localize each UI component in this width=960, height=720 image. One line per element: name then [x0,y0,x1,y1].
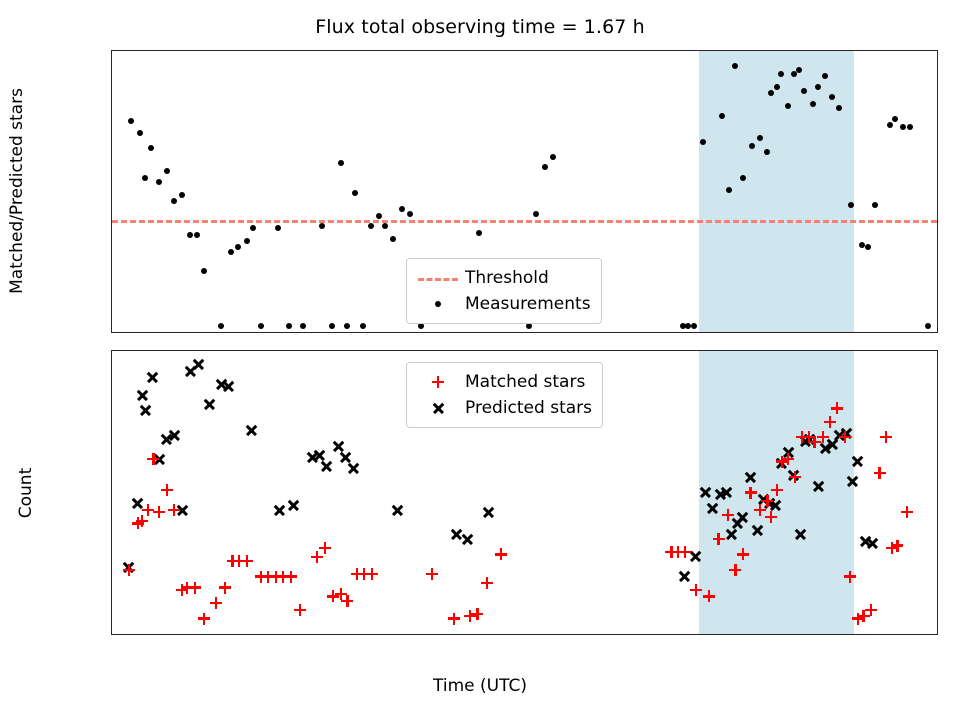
x-axis-tick [722,332,723,333]
legend-label: Predicted stars [461,398,592,418]
data-point [250,225,256,231]
y-axis-tick [111,220,112,221]
x-axis-tick [251,634,252,635]
data-point [286,323,292,329]
y-axis-tick [111,530,112,531]
data-point [275,225,281,231]
x-axis-tick [440,332,441,333]
legend-label: Matched stars [461,372,585,392]
y-axis-tick [111,62,112,63]
data-point [235,244,241,250]
y-axis-tick [111,353,112,354]
dot-marker-icon [415,293,461,315]
data-point [859,242,865,248]
cross-marker-icon [415,397,461,419]
x-axis-tick [346,634,347,635]
highlighted-time-span [699,51,854,332]
x-axis-tick [911,332,912,333]
x-axis-tick [346,332,347,333]
x-axis-tick [628,332,629,333]
data-point [407,211,413,217]
data-point [171,198,177,204]
data-point [218,323,224,329]
legend-item-matched-stars[interactable]: Matched stars [415,369,592,395]
data-point [244,238,250,244]
x-axis-tick [816,332,817,333]
data-point [925,323,931,329]
legend-item-threshold[interactable]: Threshold [415,265,591,291]
x-axis-label: Time (UTC) [0,676,960,696]
y-axis-tick [111,442,112,443]
data-point [900,124,906,130]
data-point [907,124,913,130]
x-axis-tick [722,634,723,635]
legend-item-measurements[interactable]: Measurements [415,291,591,317]
data-point [550,154,556,160]
data-point [329,323,335,329]
data-point [533,211,539,217]
data-point [258,323,264,329]
plus-marker-icon [415,371,461,393]
y-axis-tick [111,167,112,168]
y-axis-tick [111,273,112,274]
data-point [740,175,746,181]
data-point [368,223,374,229]
data-point [390,236,396,242]
data-point [142,175,148,181]
x-axis-tick [816,634,817,635]
legend-label: Measurements [461,294,591,314]
data-point [137,130,143,136]
legend-label: Threshold [461,268,549,288]
data-point [194,232,200,238]
top-y-axis-label: Matched/Predicted stars [7,88,27,294]
data-point [300,323,306,329]
data-point [399,206,405,212]
data-point [338,160,344,166]
data-point [148,145,154,151]
x-axis-tick [628,634,629,635]
data-point [887,122,893,128]
data-point [156,179,162,185]
data-point [344,323,350,329]
y-axis-tick [111,114,112,115]
data-point [872,202,878,208]
bottom-y-axis-label: Count [16,468,36,519]
data-point [319,223,325,229]
data-point [128,118,134,124]
x-axis-tick [534,634,535,635]
data-point [187,232,193,238]
figure-canvas: Flux total observing time = 1.67 h Match… [0,0,960,720]
data-point [796,67,802,73]
legend-item-predicted-stars[interactable]: Predicted stars [415,395,592,421]
threshold-line [112,220,937,223]
data-point [164,168,170,174]
y-axis-tick [111,326,112,327]
data-point [360,323,366,329]
x-axis-tick [157,332,158,333]
y-axis-tick [111,619,112,620]
data-point [542,164,548,170]
x-axis-tick [534,332,535,333]
data-point [228,249,234,255]
data-point [865,244,871,250]
data-point [757,135,763,141]
x-axis-tick [157,634,158,635]
x-axis-tick [251,332,252,333]
data-point [376,213,382,219]
data-point [774,84,780,90]
bottom-plot-legend: Matched stars Predicted stars [406,362,603,428]
dashed-line-icon [415,267,461,289]
data-point [810,101,816,107]
top-plot-legend: Threshold Measurements [406,258,602,324]
data-point [476,230,482,236]
data-point [892,116,898,122]
data-point [691,323,697,329]
data-point [778,71,784,77]
x-axis-tick [911,634,912,635]
data-point [179,192,185,198]
page-title: Flux total observing time = 1.67 h [0,16,960,38]
data-point [382,223,388,229]
data-point [352,190,358,196]
data-point [201,268,207,274]
x-axis-tick [440,634,441,635]
